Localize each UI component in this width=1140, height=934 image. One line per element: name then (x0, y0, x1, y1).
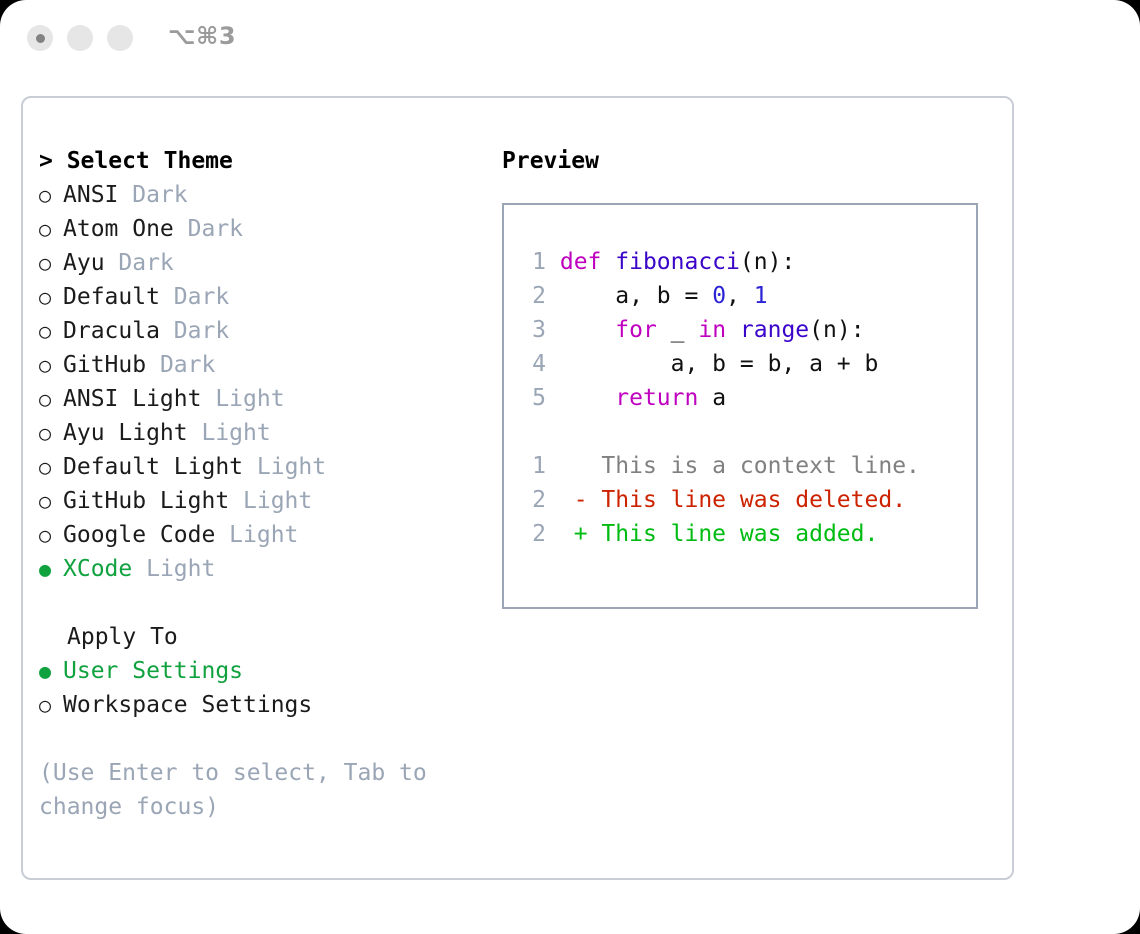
code-line: 4 a, b = b, a + b (522, 347, 920, 381)
code-line: 2 a, b = 0, 1 (522, 279, 920, 313)
code-token (560, 385, 615, 411)
code-token: return (615, 385, 698, 411)
code-token: 1 (754, 283, 768, 309)
code-token (726, 317, 740, 343)
radio-unselected-icon[interactable]: ○ (39, 382, 63, 416)
radio-unselected-icon[interactable]: ○ (39, 280, 63, 314)
theme-list-item[interactable]: ○ANSI Light Light (39, 382, 479, 416)
theme-list-item[interactable]: ○GitHub Light Light (39, 484, 479, 518)
theme-picker-window: ⌥⌘3 > Select Theme ○ANSI Dark○Atom One D… (0, 0, 1140, 934)
theme-list-item[interactable]: ○ANSI Dark (39, 178, 479, 212)
code-token: fibonacci (615, 249, 740, 275)
apply-to-option[interactable]: ○Workspace Settings (39, 688, 479, 722)
code-token (560, 317, 615, 343)
radio-unselected-icon[interactable]: ○ (39, 348, 63, 382)
radio-selected-icon[interactable]: ● (39, 552, 63, 586)
theme-kind-label: Dark (174, 314, 229, 348)
theme-name: Default Light (63, 450, 257, 484)
radio-selected-icon[interactable]: ● (39, 654, 63, 688)
diff-line: 2 + This line was added. (522, 517, 920, 551)
theme-kind-label: Dark (174, 280, 229, 314)
line-number: 2 (522, 517, 546, 551)
line-number: 1 (522, 245, 546, 279)
code-token: (n): (740, 249, 795, 275)
titlebar: ⌥⌘3 (0, 0, 1140, 78)
theme-list-item[interactable]: ○Atom One Dark (39, 212, 479, 246)
theme-kind-label: Light (229, 518, 298, 552)
hint-spacer (39, 722, 479, 756)
radio-unselected-icon[interactable]: ○ (39, 246, 63, 280)
code-token: for (615, 317, 657, 343)
theme-kind-label: Dark (118, 246, 173, 280)
theme-kind-label: Dark (188, 212, 243, 246)
theme-kind-label: Light (215, 382, 284, 416)
theme-name: XCode (63, 552, 146, 586)
keyboard-shortcut-label: ⌥⌘3 (168, 22, 236, 50)
theme-kind-label: Dark (160, 348, 215, 382)
radio-unselected-icon[interactable]: ○ (39, 178, 63, 212)
code-token: range (740, 317, 809, 343)
theme-name: GitHub Light (63, 484, 243, 518)
theme-list-item[interactable]: ○Dracula Dark (39, 314, 479, 348)
list-spacer (39, 586, 479, 620)
theme-name: Atom One (63, 212, 188, 246)
theme-list-item[interactable]: ○Ayu Dark (39, 246, 479, 280)
window-dot-second[interactable] (67, 25, 93, 51)
apply-to-options[interactable]: ●User Settings○Workspace Settings (39, 654, 479, 722)
diff-text: + This line was added. (560, 521, 879, 547)
theme-list-item[interactable]: ○GitHub Dark (39, 348, 479, 382)
code-token: a, b = b, a + b (560, 351, 879, 377)
code-token: in (698, 317, 726, 343)
apply-to-option[interactable]: ●User Settings (39, 654, 479, 688)
radio-unselected-icon[interactable]: ○ (39, 688, 63, 722)
theme-name: Google Code (63, 518, 229, 552)
theme-name: ANSI Light (63, 382, 215, 416)
theme-selection-column: > Select Theme ○ANSI Dark○Atom One Dark○… (39, 144, 479, 824)
preview-separator (522, 415, 920, 449)
theme-list-item[interactable]: ○Default Dark (39, 280, 479, 314)
code-token: , (726, 283, 754, 309)
line-number: 5 (522, 381, 546, 415)
diff-line: 2 - This line was deleted. (522, 483, 920, 517)
apply-to-heading: Apply To (39, 620, 479, 654)
radio-unselected-icon[interactable]: ○ (39, 212, 63, 246)
theme-kind-label: Light (146, 552, 215, 586)
theme-kind-label: Light (257, 450, 326, 484)
code-token: a, b = (560, 283, 712, 309)
radio-unselected-icon[interactable]: ○ (39, 484, 63, 518)
line-number: 1 (522, 449, 546, 483)
radio-unselected-icon[interactable]: ○ (39, 416, 63, 450)
select-theme-heading: > Select Theme (39, 144, 479, 178)
theme-kind-label: Light (243, 484, 312, 518)
code-token: a (698, 385, 726, 411)
code-line: 5 return a (522, 381, 920, 415)
window-dot-inner (36, 34, 45, 43)
theme-name: ANSI (63, 178, 132, 212)
theme-name: Default (63, 280, 174, 314)
code-line: 1 def fibonacci(n): (522, 245, 920, 279)
preview-column: Preview (502, 144, 992, 178)
window-dot-active[interactable] (27, 25, 53, 51)
radio-unselected-icon[interactable]: ○ (39, 450, 63, 484)
line-number: 4 (522, 347, 546, 381)
diff-text: This is a context line. (560, 453, 920, 479)
apply-to-label: User Settings (63, 654, 243, 688)
radio-unselected-icon[interactable]: ○ (39, 314, 63, 348)
theme-list-item[interactable]: ○Default Light Light (39, 450, 479, 484)
code-token: 0 (712, 283, 726, 309)
code-token: def (560, 249, 615, 275)
preview-box: 1 def fibonacci(n):2 a, b = 0, 13 for _ … (502, 203, 978, 609)
theme-name: Dracula (63, 314, 174, 348)
line-number: 2 (522, 483, 546, 517)
theme-name: GitHub (63, 348, 160, 382)
preview-heading: Preview (502, 144, 992, 178)
code-preview: 1 def fibonacci(n):2 a, b = 0, 13 for _ … (522, 245, 920, 551)
theme-list-item[interactable]: ○Google Code Light (39, 518, 479, 552)
window-dot-third[interactable] (107, 25, 133, 51)
theme-list-item[interactable]: ○Ayu Light Light (39, 416, 479, 450)
theme-kind-label: Dark (132, 178, 187, 212)
theme-name: Ayu (63, 246, 118, 280)
diff-text: - This line was deleted. (560, 487, 906, 513)
window-controls (27, 25, 133, 51)
theme-name: Ayu Light (63, 416, 201, 450)
theme-kind-label: Light (201, 416, 270, 450)
radio-unselected-icon[interactable]: ○ (39, 518, 63, 552)
keyboard-hint: (Use Enter to select, Tab to change focu… (39, 756, 459, 824)
theme-list-item[interactable]: ●XCode Light (39, 552, 479, 586)
theme-list[interactable]: ○ANSI Dark○Atom One Dark○Ayu Dark○Defaul… (39, 178, 479, 586)
line-number: 3 (522, 313, 546, 347)
code-line: 3 for _ in range(n): (522, 313, 920, 347)
main-panel: > Select Theme ○ANSI Dark○Atom One Dark○… (21, 96, 1014, 880)
code-token: _ (657, 317, 699, 343)
apply-to-label: Workspace Settings (63, 688, 312, 722)
line-number: 2 (522, 279, 546, 313)
code-token: (n): (809, 317, 864, 343)
diff-line: 1 This is a context line. (522, 449, 920, 483)
